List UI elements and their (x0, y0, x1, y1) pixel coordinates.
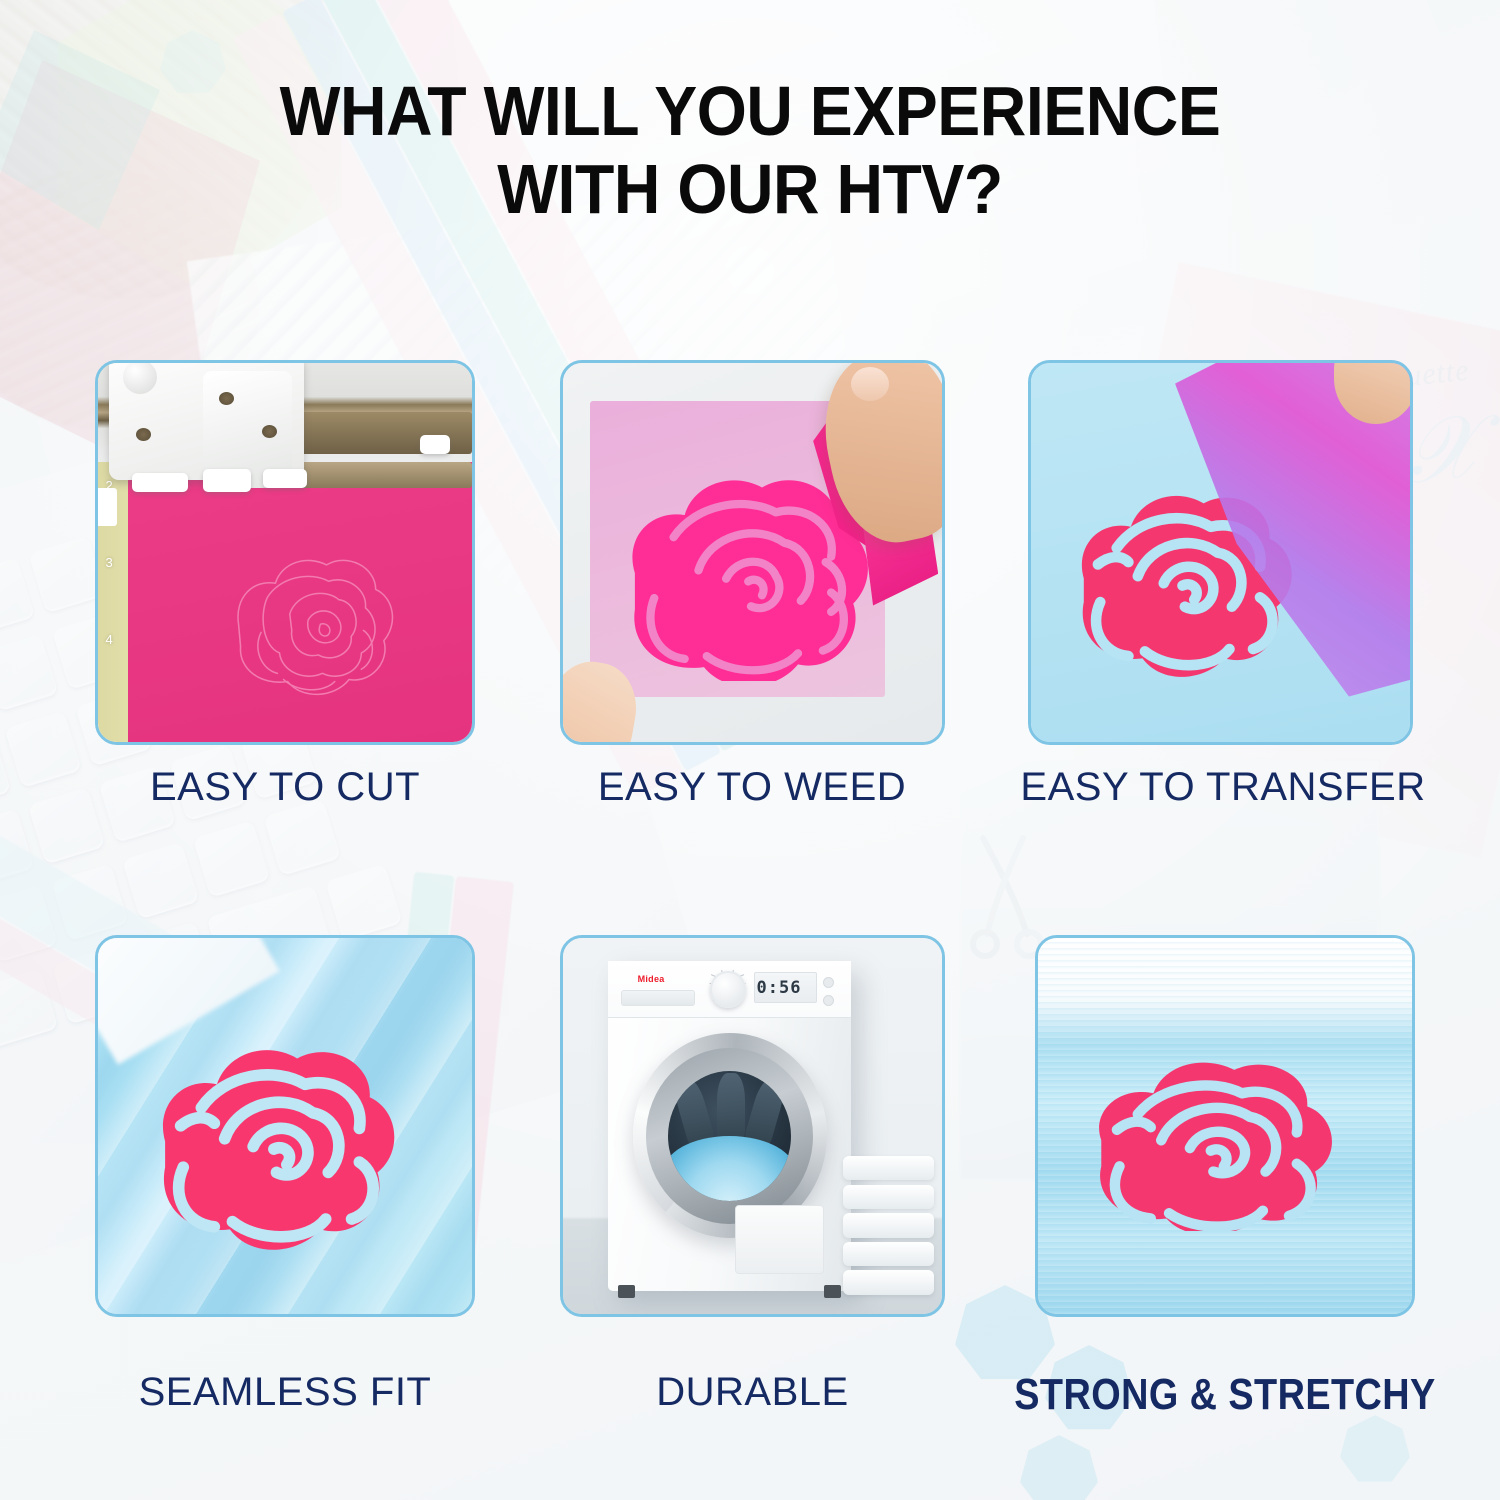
control-panel: Midea (608, 961, 851, 1018)
fingernail (851, 367, 889, 401)
towel (843, 1242, 934, 1266)
towel (843, 1185, 934, 1209)
rose-graphic (1075, 1036, 1352, 1232)
washer-foot (824, 1285, 841, 1298)
towel (843, 1156, 934, 1180)
carriage-knob (123, 360, 157, 394)
feature-image-easy-to-transfer[interactable] (1028, 360, 1413, 745)
feature-image-durable[interactable]: Midea (560, 935, 945, 1317)
pink-htv-sheet (128, 458, 472, 742)
program-dial[interactable] (710, 971, 746, 1009)
feature-image-seamless-fit[interactable] (95, 935, 475, 1317)
washer-door-glass (668, 1071, 792, 1202)
rail-stopper (420, 435, 450, 454)
stretched-fabric-photo (1038, 938, 1412, 1314)
mat-mark: 4 (105, 632, 112, 647)
washer-display-time: 0:56 (757, 978, 802, 998)
washer-door-ring (646, 1048, 813, 1224)
washing-machine: Midea (608, 961, 851, 1292)
caption-easy-to-weed: EASY TO WEED (472, 765, 1032, 810)
infographic-page: silhouette ℇ𝒳 WHAT WILL YOU EXPERIENCE W… (0, 0, 1500, 1500)
filter-hatch (735, 1205, 824, 1273)
washer-foot (618, 1285, 635, 1298)
detergent-drawer (621, 990, 696, 1007)
mat-mark: 3 (105, 555, 112, 570)
towel (843, 1213, 934, 1237)
washer-display: 0:56 (754, 972, 817, 1003)
mat-clip (95, 488, 117, 526)
machine-rail-bar-lower (292, 462, 472, 489)
caption-strong-and-stretchy: STRONG & STRETCHY (997, 1370, 1453, 1420)
transfer-photo (1031, 363, 1410, 742)
feature-image-easy-to-cut[interactable]: 1 2 3 4 (95, 360, 475, 745)
feature-grid: 1 2 3 4 (0, 0, 1500, 1500)
caption-easy-to-transfer: EASY TO TRANSFER (978, 765, 1468, 810)
cutting-machine-photo: 1 2 3 4 (98, 363, 472, 742)
rose-graphic (143, 1017, 405, 1250)
carriage-clamp (203, 469, 252, 492)
feature-image-easy-to-weed[interactable] (560, 360, 945, 745)
carriage-clamp (263, 469, 308, 488)
feature-image-strong-and-stretchy[interactable] (1035, 935, 1415, 1317)
caption-seamless-fit: SEAMLESS FIT (15, 1370, 555, 1415)
washing-machine-photo: Midea (563, 938, 942, 1314)
drum-fin (717, 1073, 744, 1141)
carriage-clamp (132, 473, 188, 492)
caption-durable: DURABLE (500, 1370, 1005, 1415)
water-swirl (668, 1136, 792, 1201)
power-button[interactable] (823, 977, 834, 988)
start-button[interactable] (823, 995, 834, 1006)
folded-towels (843, 1156, 934, 1299)
rose-cut-outline (176, 526, 444, 731)
towel (843, 1270, 934, 1294)
weeding-photo (563, 363, 942, 742)
fabric-photo (98, 938, 472, 1314)
